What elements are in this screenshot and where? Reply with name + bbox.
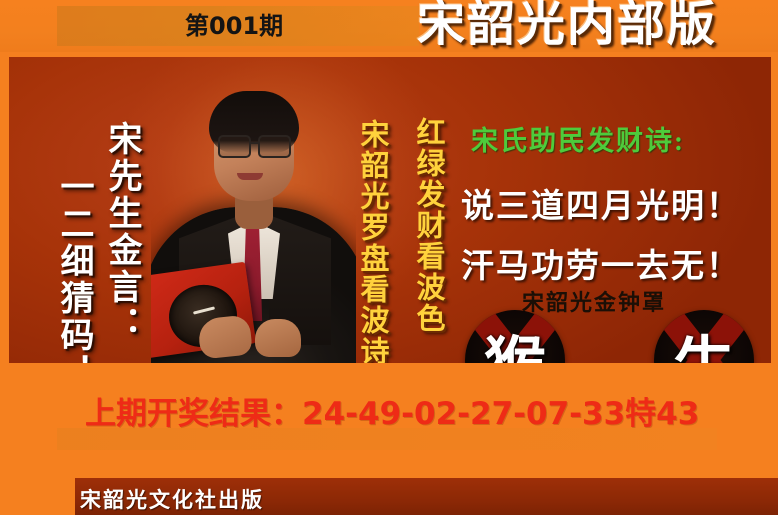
glasses-bridge <box>249 142 258 144</box>
page-title: 宋韶光内部版 <box>417 0 717 52</box>
vertical-text-masters-words: 宋先生金言： <box>97 121 146 343</box>
poem-title: 宋氏助民发财诗: <box>471 119 685 158</box>
vertical-text-guess-code: 一二细猜码！ <box>49 169 98 363</box>
zodiac-medallion-monkey: 猴 <box>465 310 565 363</box>
vertical-text-compass-wave-poem: 宋韶光罗盘看波诗： <box>351 119 393 363</box>
portrait-hand-right <box>255 319 301 357</box>
previous-draw-result: 上期开奖结果：24-49-02-27-07-33特43 <box>85 388 699 433</box>
zodiac-medallion-ox: 牛 <box>654 310 754 363</box>
issue-number-label: 第001期 <box>185 12 283 40</box>
poem-line-2: 汗马功劳一去无！ <box>461 239 741 287</box>
glasses-lens-left <box>218 135 251 158</box>
lottery-poster: 第001期 宋韶光内部版 宋先生金言： <box>0 0 778 515</box>
zodiac-character-monkey: 猴 <box>465 310 565 363</box>
portrait-mouth <box>237 173 263 180</box>
main-image-panel: 宋先生金言： 一二细猜码！ 宋韶光罗盘看波诗： 红绿发财看波色 宋氏助民发财诗:… <box>9 57 771 363</box>
glasses-lens-right <box>258 135 291 158</box>
master-portrait-photo <box>151 57 356 363</box>
zodiac-character-ox: 牛 <box>654 310 754 363</box>
publisher-label: 宋韶光文化社出版 <box>80 484 264 514</box>
vertical-text-red-green-wave-color: 红绿发财看波色 <box>407 117 449 334</box>
poem-line-1: 说三道四月光明！ <box>461 179 741 227</box>
glasses-icon <box>217 135 291 154</box>
